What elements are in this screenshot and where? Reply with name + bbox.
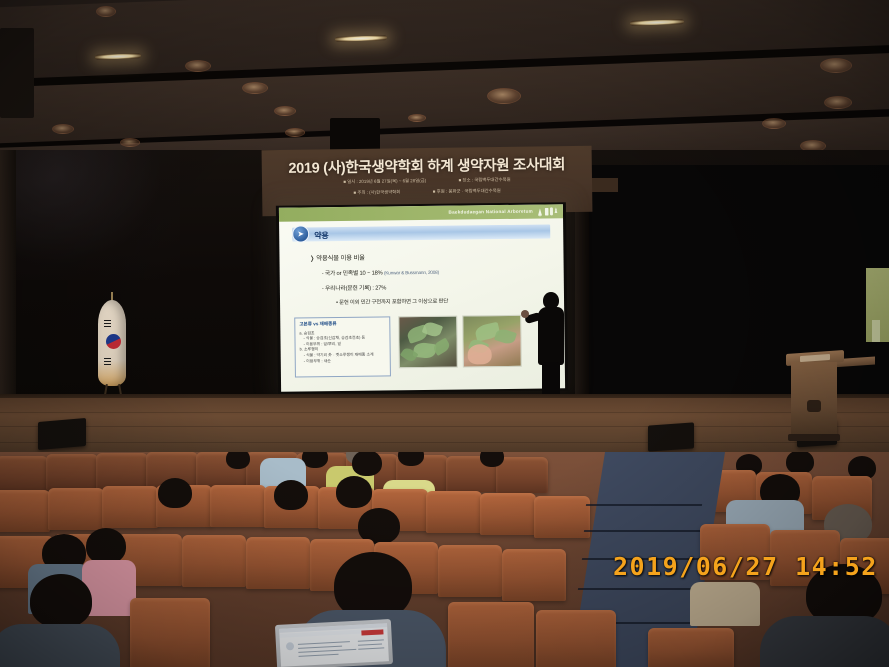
slide-bullet-3: - 우리나라(문헌 기록) : 27% <box>322 282 386 292</box>
ceiling-downlight <box>52 124 74 134</box>
plant-leaf-photo <box>398 316 458 369</box>
auditorium-seat <box>448 602 534 667</box>
audience-head <box>336 476 372 508</box>
arboretum-logo-icon <box>535 206 559 216</box>
slide-bullet-1: ❭ 약용식물 이용 비율 <box>309 253 364 263</box>
flag-cloth <box>98 300 126 386</box>
banner-host: ■ 주최 : (사)한국생약학회 <box>353 189 400 195</box>
slide-title: 약용 <box>314 230 328 241</box>
audience-head-foreground <box>30 574 92 628</box>
auditorium-seat <box>182 535 246 587</box>
auditorium-seat <box>534 496 590 538</box>
ceiling-downlight <box>242 82 268 94</box>
ceiling-downlight <box>120 138 140 147</box>
ceiling-downlight <box>285 128 305 137</box>
stage-monitor-speaker <box>648 422 694 451</box>
laptop-screen-accent <box>361 629 383 635</box>
auditorium-seat <box>48 488 104 530</box>
slide-textbox: 고본류 vs 재배종류 a. 승검초 - 식물 : 승검초(신감채, 승검초전초… <box>294 316 391 377</box>
auditorium-seat <box>46 454 98 490</box>
projection-screen: Baekdudaegan National Arboretum ➤ 약용 ❭ 약… <box>276 202 568 394</box>
auditorium-seat <box>210 485 266 527</box>
wall-column-left <box>0 150 16 400</box>
audience-torso <box>690 582 760 626</box>
audience-head <box>158 478 192 508</box>
slide-bullet-2: - 국가 or 민족별 10 ~ 18% (Kunwar & Bussmann,… <box>322 267 439 277</box>
ceiling-downlight <box>274 106 296 116</box>
auditorium-seat <box>648 628 734 667</box>
ceiling-downlight <box>408 114 426 122</box>
ceiling <box>0 0 889 160</box>
plant-in-hand-photo <box>462 315 522 368</box>
laptop-doc-icon <box>286 642 294 650</box>
slide-textbox-line: - 식물 : 약기리 外 · 멧소루쟁이 재배종 소계 <box>300 352 386 359</box>
lectern-emblem-icon <box>807 400 821 412</box>
presenter-torso <box>538 307 564 365</box>
auditorium-seat <box>480 493 536 535</box>
audience-head <box>274 480 308 510</box>
auditorium-seat <box>0 456 48 492</box>
slide-textbox-line: - 이용부위 : 새순 <box>300 357 386 364</box>
presenter-hand <box>521 310 529 318</box>
auditorium-seat <box>536 610 616 667</box>
camera-timestamp: 2019/06/27 14:52 <box>613 552 878 581</box>
arrow-circle-icon: ➤ <box>292 225 309 242</box>
slide-bullet-2-text: 국가 or 민족별 10 ~ 18% <box>325 270 383 277</box>
banner-date: ■ 일시 : 2019년 6월 27일(목) ~ 6월 28일(금) <box>343 178 426 184</box>
ceiling-downlight <box>824 96 852 109</box>
presentation-slide: Baekdudaegan National Arboretum ➤ 약용 ❭ 약… <box>279 204 565 391</box>
banner-venue: ■ 장소 : 국립백두대간수목원 <box>459 177 511 183</box>
audience-head <box>786 452 814 474</box>
audience-head <box>352 452 382 476</box>
lectern-base <box>788 434 840 441</box>
ceiling-downlight <box>185 60 211 72</box>
slide-bullet-4: • 문헌 이외 민간 구전까지 포함하면 그 이상으로 판단 <box>336 297 448 306</box>
auditorium-seat <box>502 549 566 601</box>
auditorium-seat <box>438 545 502 597</box>
wooden-lectern <box>786 352 844 444</box>
audience-head <box>226 452 250 469</box>
slide-bullet-2-citation: (Kunwar & Bussmann, 2008) <box>384 270 439 276</box>
slide-bullet-3-text: 우리나라(문헌 기록) : 27% <box>325 285 386 292</box>
auditorium-photo: 2019 (사)한국생약학회 하계 생약자원 조사대회 ■ 일시 : 2019년… <box>0 0 889 667</box>
laptop-screen[interactable] <box>279 623 389 667</box>
ceiling-downlight <box>96 6 116 17</box>
banner-subline-2: ■ 주최 : (사)한국생약학회 ■ 후원 : 봉화군 · 국립백두대간수목원 <box>262 187 592 198</box>
ceiling-downlight <box>487 88 521 104</box>
stage-monitor-speaker <box>38 418 86 450</box>
banner-title: 2019 (사)한국생약학회 하계 생약자원 조사대회 <box>262 153 592 179</box>
auditorium-seat <box>102 486 158 528</box>
ceiling-downlight <box>762 118 786 129</box>
banner-sponsor: ■ 후원 : 봉화군 · 국립백두대간수목원 <box>433 188 501 194</box>
green-wall-panel-inset <box>872 320 880 342</box>
taeguk-symbol-icon <box>106 334 121 349</box>
lectern-body <box>791 362 837 436</box>
slide-header-org: Baekdudaegan National Arboretum <box>448 208 532 214</box>
slide-header-bar: Baekdudaegan National Arboretum <box>279 204 563 221</box>
ceiling-vent <box>0 28 34 118</box>
auditorium-seat <box>96 453 148 489</box>
auditorium-seat <box>496 457 548 493</box>
auditorium-seat <box>246 537 310 589</box>
slide-bullet-1-text: 약용식물 이용 비율 <box>316 255 365 263</box>
slide-title-bar <box>292 224 550 241</box>
ceiling-downlight <box>820 58 852 73</box>
wall-light-glow <box>0 150 180 280</box>
slide-bullet-4-text: 문헌 이외 민간 구전까지 포함하면 그 이상으로 판단 <box>339 299 448 306</box>
audience-torso-foreground <box>0 624 120 667</box>
slide-textbox-heading: 고본류 vs 재배종류 <box>299 320 385 327</box>
auditorium-seat <box>0 490 50 532</box>
standing-presenter-silhouette <box>535 292 569 402</box>
audience-head <box>86 528 126 564</box>
audience-laptop[interactable] <box>275 619 393 667</box>
auditorium-seat <box>130 598 210 667</box>
audience-torso-foreground <box>760 616 889 667</box>
auditorium-seat <box>426 491 482 533</box>
hand-in-photo <box>468 344 492 364</box>
